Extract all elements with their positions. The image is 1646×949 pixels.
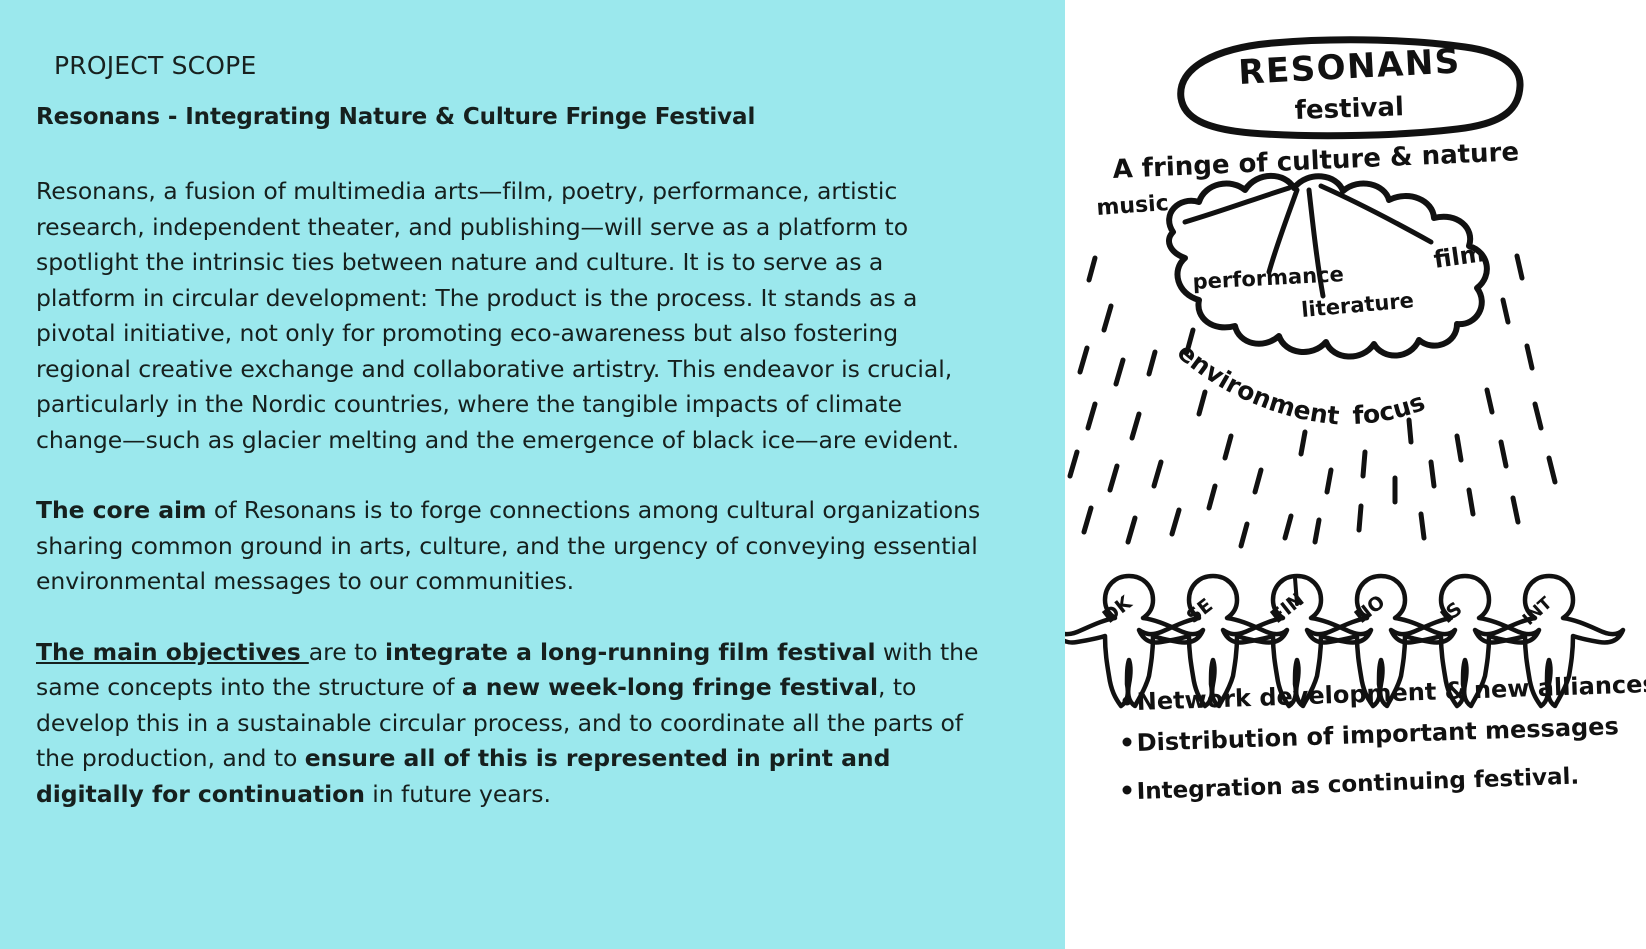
bullet-text-3: Integration as continuing festival.: [1136, 764, 1579, 805]
objectives-seg-7: in future years.: [365, 780, 551, 808]
objectives-seg-1: are to: [309, 638, 385, 666]
cloud-label-film: film: [1432, 239, 1486, 274]
spacer: [36, 139, 1025, 174]
sketch-title: RESONANS: [1237, 41, 1461, 93]
cloud-label-music: music: [1096, 191, 1170, 221]
objectives-lead: The main objectives: [36, 638, 309, 666]
sketch-canvas: RESONANS festival A fringe of culture & …: [1065, 0, 1646, 949]
bullet-marker-icon: [1123, 697, 1132, 706]
bullet-item-2: Distribution of important messages: [1123, 712, 1620, 757]
cloud-caption-focus: focus: [1352, 387, 1429, 430]
bullet-text-2: Distribution of important messages: [1136, 712, 1619, 757]
hand-drawn-sketch-panel: RESONANS festival A fringe of culture & …: [1065, 0, 1646, 949]
core-aim-lead: The core aim: [36, 496, 206, 524]
slide-root: PROJECT SCOPE Resonans - Integrating Nat…: [0, 0, 1646, 949]
sketch-subtitle: festival: [1294, 92, 1404, 126]
spacer: [36, 600, 1025, 635]
paragraph-intro: Resonans, a fusion of multimedia arts—fi…: [36, 174, 981, 458]
project-scope-panel: PROJECT SCOPE Resonans - Integrating Nat…: [0, 0, 1065, 949]
spacer: [36, 458, 1025, 493]
page-title: Resonans - Integrating Nature & Culture …: [36, 104, 1025, 132]
paragraph-objectives: The main objectives are to integrate a l…: [36, 635, 981, 813]
objectives-seg-4: a new week-long fringe festival: [462, 673, 878, 701]
bullet-marker-icon: [1123, 738, 1132, 747]
bullet-item-3: Integration as continuing festival.: [1123, 764, 1580, 805]
bullet-marker-icon: [1123, 786, 1132, 795]
objectives-seg-2: integrate a long-running film festival: [385, 638, 875, 666]
paragraph-core-aim: The core aim of Resonans is to forge con…: [36, 493, 981, 600]
panel-eyebrow-label: PROJECT SCOPE: [54, 52, 1025, 80]
sketch-bullet-list: Network development & new alliances Dist…: [1123, 670, 1646, 805]
cloud-label-literature: literature: [1300, 288, 1414, 322]
